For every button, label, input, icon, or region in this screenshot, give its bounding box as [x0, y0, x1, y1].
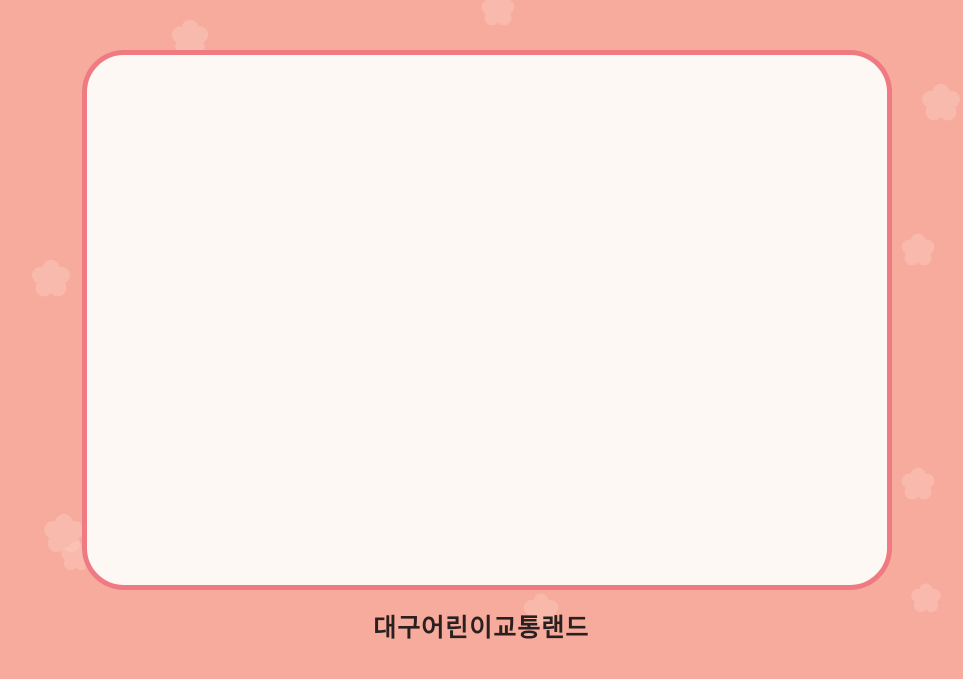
blossom-icon — [478, 0, 518, 32]
organization-name: 대구어린이교통랜드 — [373, 613, 589, 642]
notice-card — [82, 50, 892, 590]
blossom-icon — [40, 512, 88, 560]
notice-poster: 휴관일 안내 매달 첫째 — [0, 0, 963, 679]
footer: 대구어린이교통랜드 — [0, 608, 963, 644]
blossom-icon — [898, 466, 938, 506]
